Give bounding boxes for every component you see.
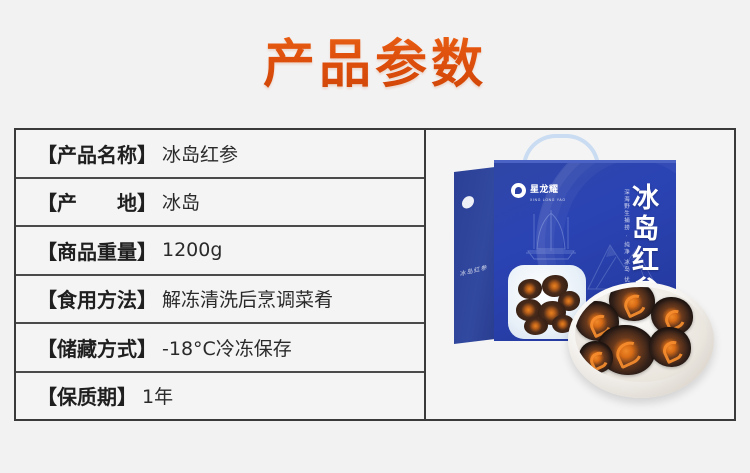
parameter-value: 冰岛红参 (162, 140, 238, 167)
parameter-label: 【产品名称】 (37, 139, 157, 168)
sea-cucumber-piece (649, 327, 691, 367)
parameter-label: 【保质期】 (37, 381, 137, 410)
parameter-value: 1年 (142, 382, 173, 409)
table-row: 【食用方法】 解冻清洗后烹调菜肴 (16, 276, 424, 325)
table-row: 【商品重量】 1200g (16, 227, 424, 276)
table-row: 【保质期】 1年 (16, 373, 424, 420)
sea-cucumber-piece (579, 341, 613, 373)
brand-name: 星龙耀 (530, 185, 559, 195)
table-row: 【储藏方式】 -18°C冷冻保存 (16, 324, 424, 373)
sailing-ship-icon (520, 207, 582, 263)
parameter-label: 【产 地】 (37, 187, 157, 216)
bowl-interior (575, 287, 707, 382)
brand-subtitle: XING LONG YAO (530, 199, 566, 202)
parameter-value: 冰岛 (162, 188, 200, 215)
product-bowl-image (568, 282, 714, 398)
brand-badge-icon (511, 183, 526, 198)
parameter-value: 解冻清洗后烹调菜肴 (162, 285, 333, 312)
parameter-value: -18°C冷冻保存 (162, 334, 292, 361)
parameter-table: 【产品名称】 冰岛红参 【产 地】 冰岛 【商品重量】 1200g 【食用方法】… (16, 130, 426, 419)
parameter-label: 【商品重量】 (37, 236, 157, 265)
title-area: 产品参数 (0, 0, 750, 118)
table-row: 【产 地】 冰岛 (16, 179, 424, 228)
box-side-logo-icon (462, 195, 474, 210)
box-side-text: 冰岛红参 (460, 262, 488, 278)
parameter-label: 【食用方法】 (37, 284, 157, 313)
product-parameter-panel: 【产品名称】 冰岛红参 【产 地】 冰岛 【商品重量】 1200g 【食用方法】… (14, 128, 736, 421)
product-photo: 冰岛红参 (426, 130, 734, 419)
parameter-label: 【储藏方式】 (37, 333, 157, 362)
table-row: 【产品名称】 冰岛红参 (16, 130, 424, 179)
brand-logo: 星龙耀 XING LONG YAO (511, 179, 566, 202)
box-side-panel: 冰岛红参 (454, 167, 496, 344)
parameter-value: 1200g (162, 239, 222, 261)
page-title: 产品参数 (263, 22, 487, 97)
